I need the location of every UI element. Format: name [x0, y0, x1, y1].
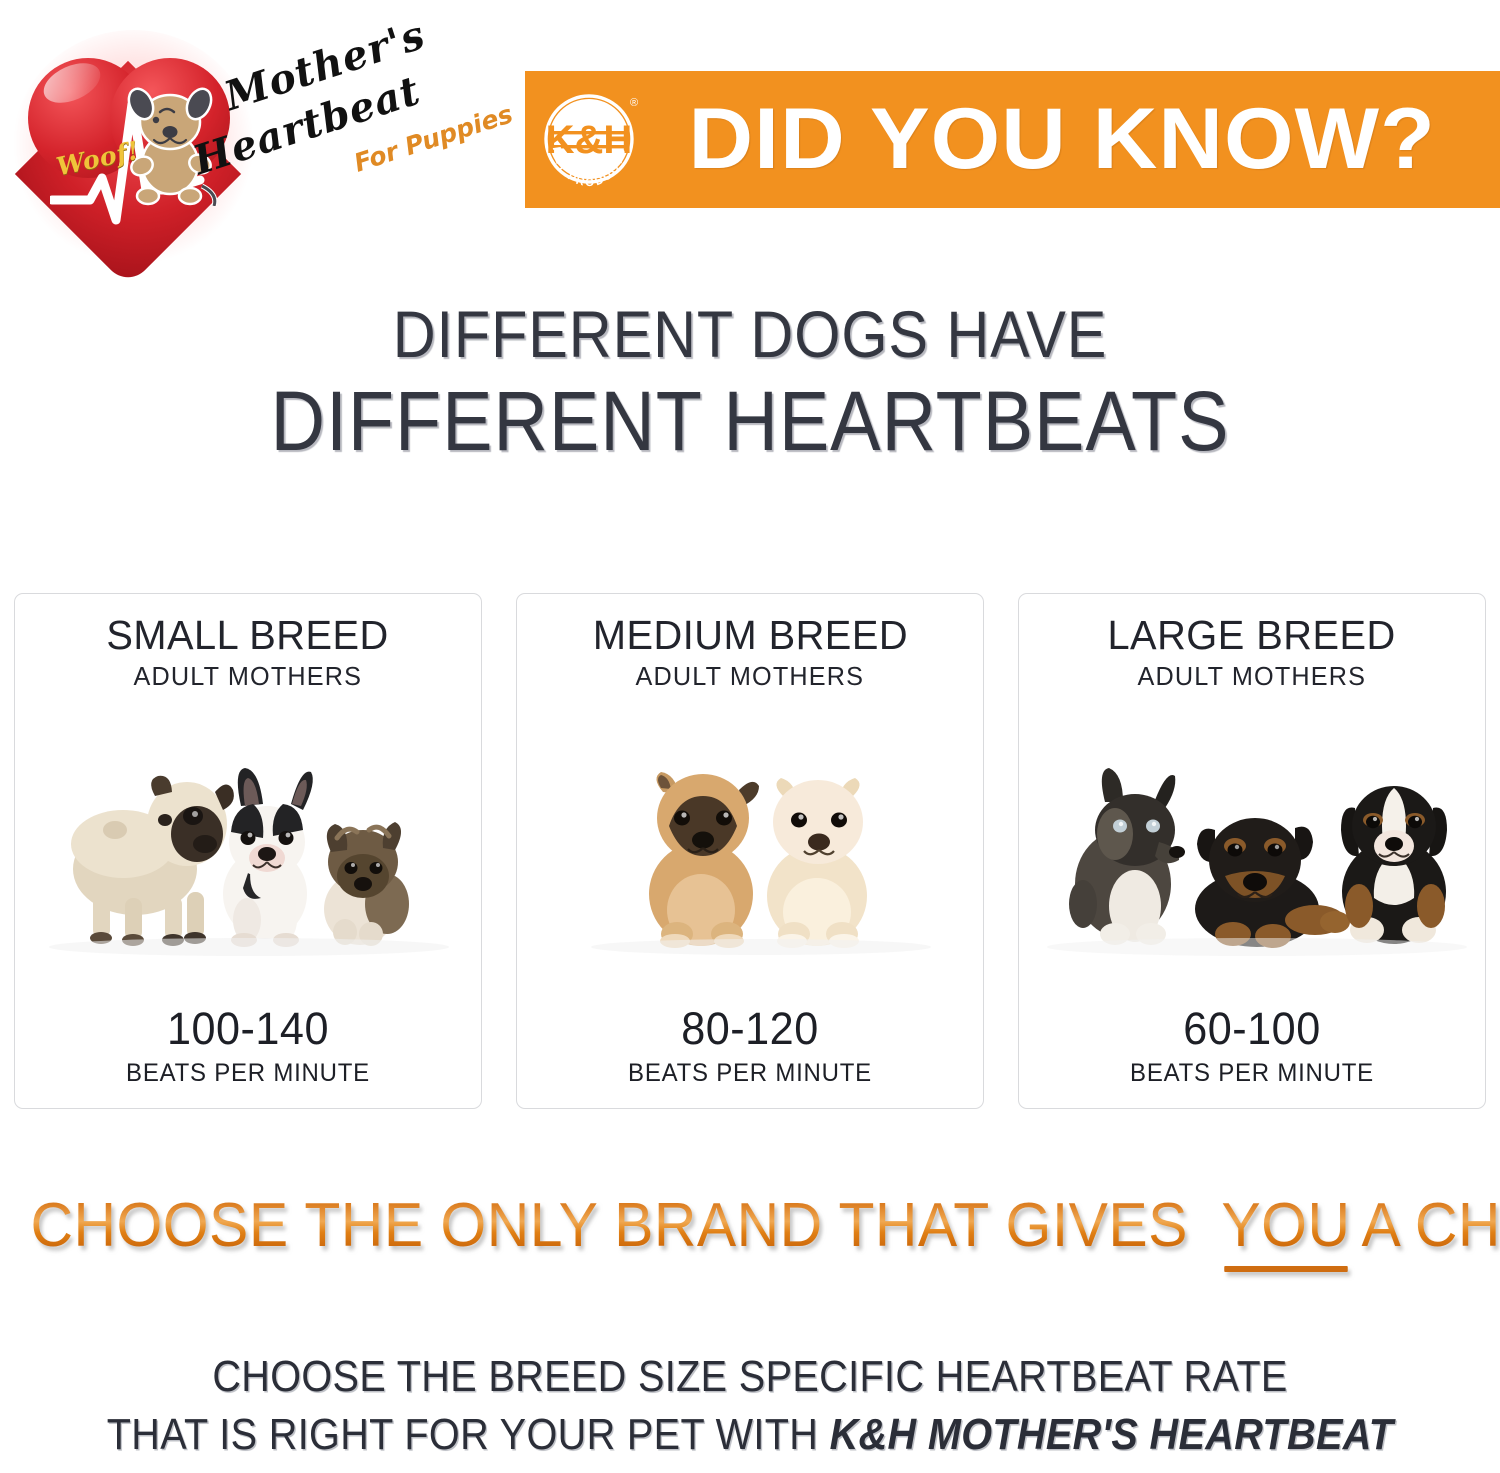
breed-card-bpm: 60-100 [1028, 1006, 1475, 1051]
brand-choice-tagline: CHOOSE THE ONLY BRAND THAT GIVES YOU A C… [0, 1190, 1500, 1261]
small-breed-puppies-photo [15, 734, 483, 969]
breed-card-title: SMALL BREED [107, 615, 389, 656]
hero-heading: DIFFERENT DOGS HAVE DIFFERENT HEARTBEATS [0, 300, 1500, 468]
hero-heading-line-1: DIFFERENT DOGS HAVE [75, 300, 1425, 369]
breed-card-bpm-label: BEATS PER MINUTE [526, 1061, 973, 1086]
page-footer: CHOOSE THE BREED SIZE SPECIFIC HEARTBEAT… [0, 1348, 1500, 1464]
breed-card-subtitle: ADULT MOTHERS [1138, 663, 1367, 689]
large-breed-puppies-photo [1019, 734, 1487, 969]
breed-card-bpm: 100-140 [24, 1006, 471, 1051]
brand-wordmark: Mother's Heartbeat For Puppies [183, 18, 513, 198]
tagline-part-1: CHOOSE THE ONLY BRAND THAT GIVES [30, 1190, 1187, 1261]
breed-card-bpm-label: BEATS PER MINUTE [1028, 1061, 1475, 1086]
breed-card-bpm-label: BEATS PER MINUTE [24, 1061, 471, 1086]
did-you-know-headline: DID YOU KNOW? [624, 98, 1500, 181]
breed-card-title: MEDIUM BREED [592, 615, 907, 656]
hero-heading-line-2: DIFFERENT HEARTBEATS [75, 375, 1425, 467]
footer-product-name: K&H MOTHER'S HEARTBEAT [830, 1410, 1394, 1459]
footer-line-2: THAT IS RIGHT FOR YOUR PET WITH K&H MOTH… [75, 1406, 1425, 1464]
did-you-know-banner: K&H PET PRODUCTS ® DID YOU KNOW? [525, 71, 1500, 208]
breed-card-subtitle: ADULT MOTHERS [636, 663, 865, 689]
tagline-emphasis-you: YOU [1222, 1190, 1351, 1261]
brand-logo: Woof! Mother's Heartbeat For Puppies [8, 12, 508, 267]
medium-breed-puppies-photo [517, 734, 985, 969]
breed-card-subtitle: ADULT MOTHERS [134, 663, 363, 689]
footer-line-2-prefix: THAT IS RIGHT FOR YOUR PET WITH [107, 1410, 830, 1459]
breed-card-small[interactable]: SMALL BREED ADULT MOTHERS [14, 593, 482, 1109]
breed-card-medium[interactable]: MEDIUM BREED ADULT MOTHERS [516, 593, 984, 1109]
breed-card-list: SMALL BREED ADULT MOTHERS [14, 593, 1486, 1111]
breed-card-bpm: 80-120 [526, 1006, 973, 1051]
breed-card-large[interactable]: LARGE BREED ADULT MOTHERS [1018, 593, 1486, 1109]
footer-line-1: CHOOSE THE BREED SIZE SPECIFIC HEARTBEAT… [75, 1348, 1425, 1406]
tagline-part-2: A CHOICE [1362, 1190, 1500, 1261]
page-header: Woof! Mother's Heartbeat For Puppies K&H [0, 0, 1500, 240]
breed-card-title: LARGE BREED [1108, 615, 1396, 656]
